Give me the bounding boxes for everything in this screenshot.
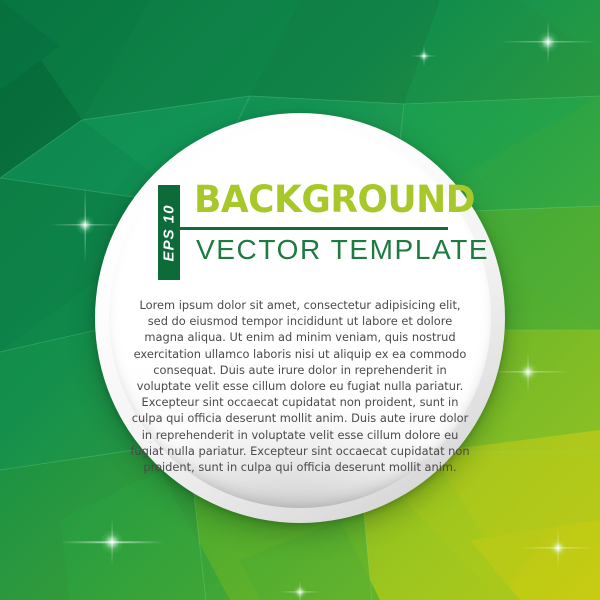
page-subtitle: VECTOR TEMPLATE: [196, 235, 489, 266]
title-divider: [176, 227, 448, 230]
eps-badge-label: EPS 10: [162, 204, 177, 261]
poster-canvas: EPS 10 BACKGROUND VECTOR TEMPLATE Lorem …: [0, 0, 600, 600]
page-title: BACKGROUND: [194, 181, 475, 218]
eps-badge: EPS 10: [158, 185, 180, 280]
title-block: EPS 10 BACKGROUND VECTOR TEMPLATE: [158, 185, 448, 283]
body-paragraph: Lorem ipsum dolor sit amet, consectetur …: [129, 297, 471, 475]
disc-content: EPS 10 BACKGROUND VECTOR TEMPLATE Lorem …: [95, 113, 505, 523]
